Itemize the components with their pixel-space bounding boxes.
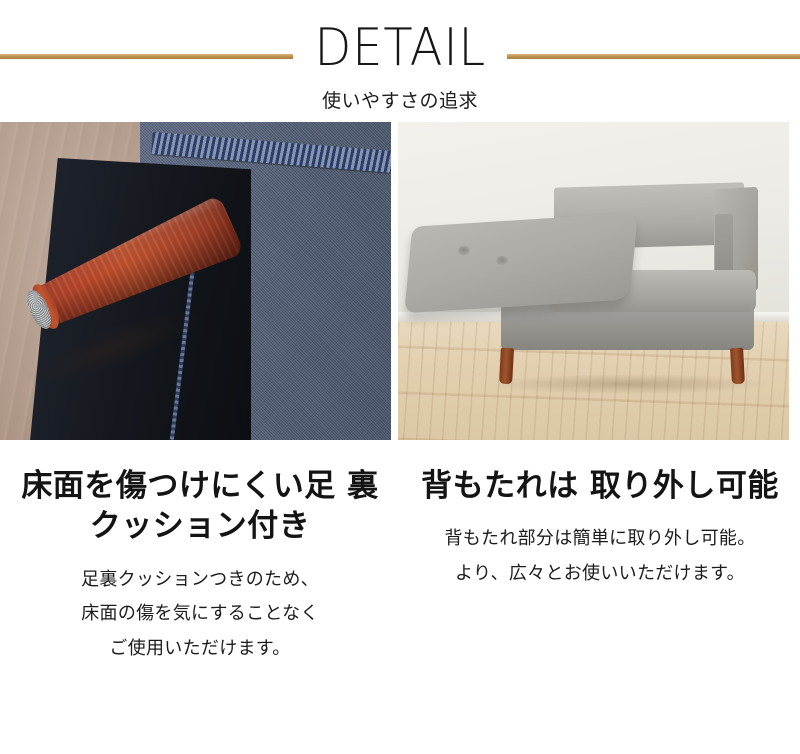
gold-rule-right [507, 54, 800, 59]
feature-body: 足裏クッションつきのため、 床面の傷を気にすることなく ご使用いただけます。 [0, 563, 400, 667]
sofa-wooden-leg [499, 348, 514, 385]
feature-body-line-2: より、広々とお使いいただけます。 [410, 557, 790, 592]
cushion-tuft-button [496, 256, 508, 265]
photo-sofa-backrest-removed [398, 122, 789, 440]
feature-body-line-2: 床面の傷を気にすることなく [10, 597, 390, 632]
feature-body-line-3: ご使用いただけます。 [10, 632, 390, 667]
feature-text-row: 床面を傷つけにくい足 裏クッション付き 足裏クッションつきのため、 床面の傷を気… [0, 440, 800, 666]
sofa-cast-shadow [490, 374, 768, 394]
gold-rule-left [0, 54, 293, 59]
page-subtitle: 使いやすさの追求 [0, 86, 800, 113]
feature-body-line-1: 足裏クッションつきのため、 [10, 563, 390, 598]
feature-heading-line-2: 取り外し可能 [590, 468, 779, 504]
removable-back-cushion [404, 213, 638, 314]
page-header: DETAIL 使いやすさの追求 [0, 0, 800, 122]
page-title: DETAIL [309, 22, 492, 74]
feature-heading: 背もたれは 取り外し可能 [400, 466, 800, 506]
photo-strip [0, 122, 800, 440]
photo-sofa-leg-closeup [0, 122, 391, 440]
feature-column-floor-pad: 床面を傷つけにくい足 裏クッション付き 足裏クッションつきのため、 床面の傷を気… [0, 466, 400, 666]
feature-body-line-1: 背もたれ部分は簡単に取り外し可能。 [410, 522, 790, 557]
feature-column-removable-backrest: 背もたれは 取り外し可能 背もたれ部分は簡単に取り外し可能。 より、広々とお使い… [400, 466, 800, 666]
feature-body: 背もたれ部分は簡単に取り外し可能。 より、広々とお使いいただけます。 [400, 522, 800, 591]
sofa-wooden-leg [730, 348, 745, 385]
feature-heading-line-1: 床面を傷つけにくい足 [21, 468, 335, 504]
title-rule-row: DETAIL [0, 0, 800, 96]
feature-heading-line-1: 背もたれは [421, 468, 579, 504]
cushion-tuft-button [458, 246, 470, 255]
feature-heading: 床面を傷つけにくい足 裏クッション付き [0, 466, 400, 547]
